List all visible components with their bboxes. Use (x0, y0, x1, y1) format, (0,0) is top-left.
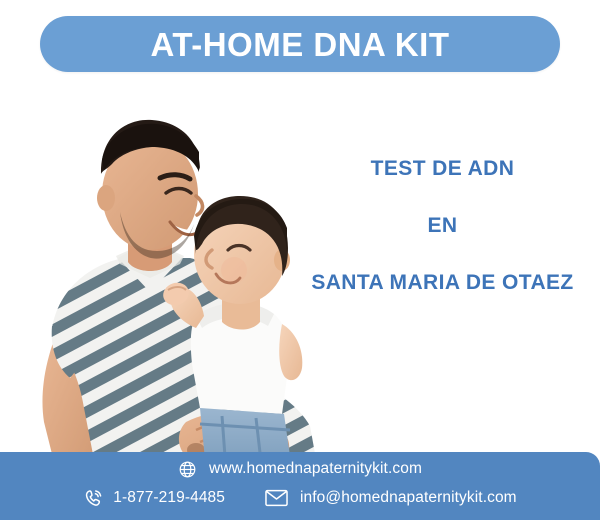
phone-text[interactable]: 1-877-219-4485 (113, 489, 225, 507)
headline-line-1: TEST DE ADN (285, 158, 600, 179)
envelope-icon (265, 489, 288, 507)
email-group: info@homednapaternitykit.com (265, 489, 517, 507)
footer-contact-row: 1-877-219-4485 info@homednapaternitykit.… (0, 484, 600, 512)
email-text[interactable]: info@homednapaternitykit.com (300, 489, 517, 507)
headline-line-3: SANTA MARIA DE OTAEZ (285, 272, 600, 293)
headline-line-2: EN (285, 215, 600, 236)
footer-website-row: www.homednapaternitykit.com (0, 456, 600, 482)
promo-card: AT-HOME DNA KIT (0, 0, 600, 520)
phone-icon (83, 488, 104, 509)
family-photo (0, 78, 330, 470)
banner: AT-HOME DNA KIT (40, 16, 560, 72)
website-text[interactable]: www.homednapaternitykit.com (209, 460, 422, 478)
contact-footer: www.homednapaternitykit.com 1-877-219-44… (0, 452, 600, 520)
phone-group: 1-877-219-4485 (83, 488, 225, 509)
family-photo-illustration (0, 78, 330, 470)
banner-title: AT-HOME DNA KIT (151, 28, 450, 61)
headline-block: TEST DE ADN EN SANTA MARIA DE OTAEZ (285, 158, 600, 293)
globe-icon (178, 460, 197, 479)
